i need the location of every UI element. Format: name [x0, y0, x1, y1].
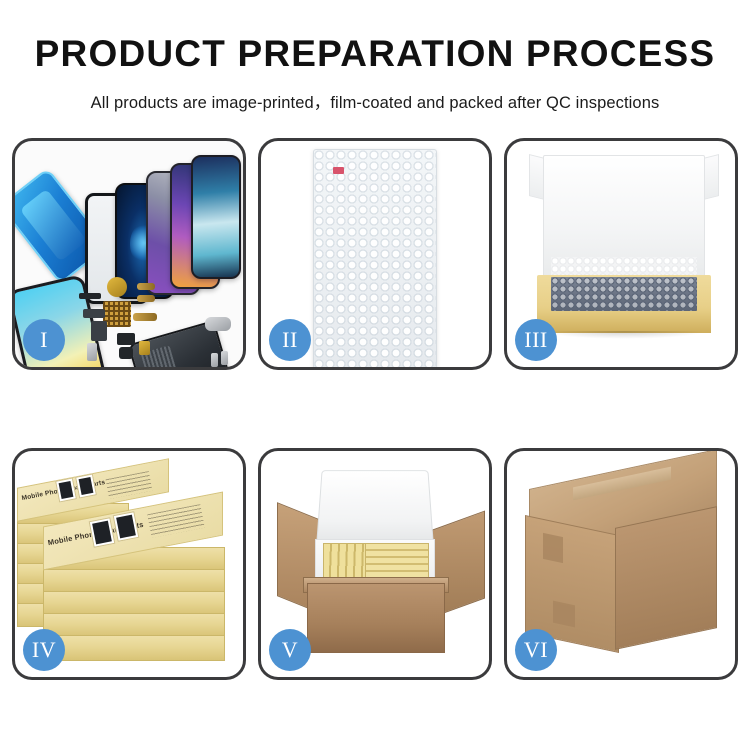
panel-step-2-scene: II — [261, 141, 489, 367]
small-module-part — [83, 309, 105, 318]
panel-step-5: V — [258, 448, 492, 680]
camera-module-part — [117, 333, 135, 345]
box-thumb-back-1 — [55, 477, 77, 502]
kraft-box-front-wall — [537, 311, 711, 333]
carton-tab-lower — [553, 601, 575, 628]
phone-screen-teal — [191, 155, 241, 279]
badge-step-3: III — [515, 319, 557, 361]
panel-step-6: VI — [504, 448, 738, 680]
foam-box-lid — [316, 470, 434, 545]
header: PRODUCT PREPARATION PROCESS All products… — [0, 34, 750, 113]
panel-step-5-scene: V — [261, 451, 489, 677]
copper-coil-part — [107, 277, 127, 297]
bubble-wrapped-contents — [551, 277, 697, 311]
tool-tweezers — [205, 317, 231, 331]
panel-step-4-scene: Mobile Phone Spare Parts Mobile Phone Sp… — [15, 451, 243, 677]
box-shadow — [543, 331, 705, 339]
panel-step-6-scene: VI — [507, 451, 735, 677]
badge-step-4: IV — [23, 629, 65, 671]
kraft-box-fr-3 — [43, 591, 225, 615]
badge-step-5: V — [269, 629, 311, 671]
flex-cable-part-b — [137, 295, 155, 302]
red-protective-tab — [333, 167, 344, 174]
page-title: PRODUCT PREPARATION PROCESS — [0, 34, 750, 75]
carton-body — [307, 583, 445, 653]
gold-contact-part — [139, 341, 150, 355]
badge-step-6: VI — [515, 629, 557, 671]
carton-right-face — [615, 506, 717, 650]
kraft-box-fr-4 — [43, 613, 225, 637]
connector-pad-part — [103, 301, 131, 327]
earpiece-mesh-part — [79, 293, 101, 299]
flex-cable-part-c — [133, 313, 157, 321]
vibrator-part — [91, 321, 107, 341]
badge-step-1: I — [23, 319, 65, 361]
carton-tab-upper — [543, 533, 563, 563]
panel-step-3: III — [504, 138, 738, 370]
badge-step-2: II — [269, 319, 311, 361]
flex-cable-part-a — [137, 283, 155, 290]
panel-step-4: Mobile Phone Spare Parts Mobile Phone Sp… — [12, 448, 246, 680]
screw-part-b — [221, 351, 228, 365]
box-thumb-back-2 — [75, 473, 97, 498]
panel-step-3-scene: III — [507, 141, 735, 367]
speaker-part — [119, 347, 133, 359]
screw-part-a — [211, 353, 218, 367]
sim-tray-part — [87, 343, 97, 361]
kraft-box-fr-5 — [43, 635, 225, 661]
infographic-page: PRODUCT PREPARATION PROCESS All products… — [0, 0, 750, 750]
steps-grid: I II — [12, 138, 738, 680]
bubble-wrap-bag — [313, 149, 437, 367]
panel-step-1: I — [12, 138, 246, 370]
panel-step-1-scene: I — [15, 141, 243, 367]
page-subtitle: All products are image-printed，film-coat… — [0, 89, 750, 113]
panel-step-2: II — [258, 138, 492, 370]
kraft-box-fr-2 — [43, 569, 225, 593]
